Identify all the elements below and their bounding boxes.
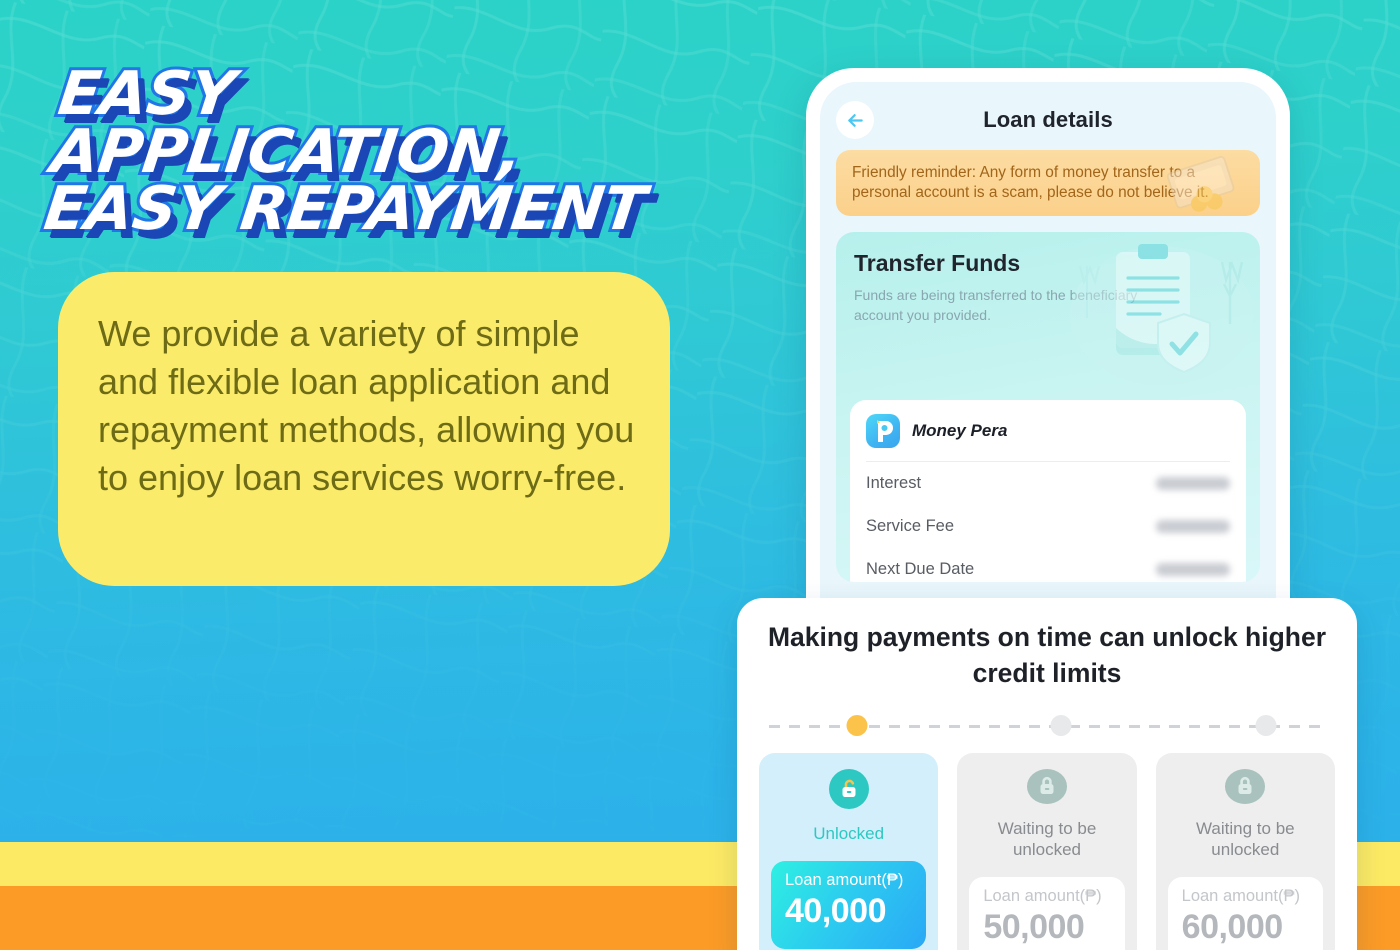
page-headline: EASY APPLICATION, EASY REPAYMENT (41, 66, 715, 239)
detail-value-masked (1156, 477, 1230, 490)
progress-dot-3 (1255, 715, 1276, 736)
detail-label: Service Fee (866, 517, 954, 536)
tier-amount-value: 50,000 (983, 908, 1110, 947)
detail-value-masked (1156, 520, 1230, 533)
progress-track (759, 715, 1335, 737)
credit-tier-card-locked-1[interactable]: Waiting to be unlocked Loan amount(₱) 50… (957, 753, 1136, 950)
phone-title: Loan details (836, 107, 1260, 133)
locked-padlock-icon (1225, 769, 1265, 804)
warning-banner-text: Friendly reminder: Any form of money tra… (852, 164, 1209, 201)
credit-limit-unlock-card: Making payments on time can unlock highe… (737, 598, 1357, 950)
phone-screen: Loan details Friendly reminder: Any form… (820, 82, 1276, 604)
credit-tier-list: Unlocked Loan amount(₱) 40,000 Waiting t… (759, 753, 1335, 950)
detail-label: Interest (866, 474, 921, 493)
phone-topbar: Loan details (836, 94, 1260, 146)
tier-amount-value: 60,000 (1182, 908, 1309, 947)
detail-row: Interest (866, 462, 1230, 505)
locked-padlock-icon (1027, 769, 1067, 804)
tier-amount-box: Loan amount(₱) 60,000 (1168, 877, 1323, 950)
tier-amount-value: 40,000 (785, 892, 912, 931)
credit-tier-card-unlocked[interactable]: Unlocked Loan amount(₱) 40,000 (759, 753, 938, 950)
money-pera-app-icon (866, 414, 900, 448)
callout-box: We provide a variety of simple and flexi… (58, 272, 670, 586)
progress-dot-1 (846, 715, 867, 736)
phone-mockup: Loan details Friendly reminder: Any form… (806, 68, 1290, 604)
tier-status: Unlocked (813, 823, 884, 845)
detail-row: Next Due Date (866, 548, 1230, 582)
unlocked-padlock-icon (829, 769, 869, 809)
tier-amount-label: Loan amount(₱) (785, 871, 912, 890)
tier-status: Waiting to be unlocked (1168, 818, 1323, 861)
detail-row: Service Fee (866, 505, 1230, 548)
tier-amount-box: Loan amount(₱) 50,000 (969, 877, 1124, 950)
lender-details-card: Money Pera Interest Service Fee Next Due… (850, 400, 1246, 582)
progress-dot-2 (1051, 715, 1072, 736)
lender-row: Money Pera (866, 414, 1230, 461)
tier-amount-label: Loan amount(₱) (1182, 887, 1309, 906)
lender-name: Money Pera (912, 421, 1007, 441)
tier-amount-box: Loan amount(₱) 40,000 (771, 861, 926, 949)
detail-value-masked (1156, 563, 1230, 576)
unlock-card-title: Making payments on time can unlock highe… (759, 620, 1335, 691)
cash-stack-icon (1158, 154, 1254, 216)
tier-amount-label: Loan amount(₱) (983, 887, 1110, 906)
credit-tier-card-locked-2[interactable]: Waiting to be unlocked Loan amount(₱) 60… (1156, 753, 1335, 950)
callout-text: We provide a variety of simple and flexi… (98, 310, 642, 502)
warning-banner: Friendly reminder: Any form of money tra… (836, 150, 1260, 216)
detail-label: Next Due Date (866, 560, 974, 579)
tier-status: Waiting to be unlocked (969, 818, 1124, 861)
clipboard-shield-icon (1054, 236, 1254, 401)
transfer-funds-card: Transfer Funds Funds are being transferr… (836, 232, 1260, 582)
